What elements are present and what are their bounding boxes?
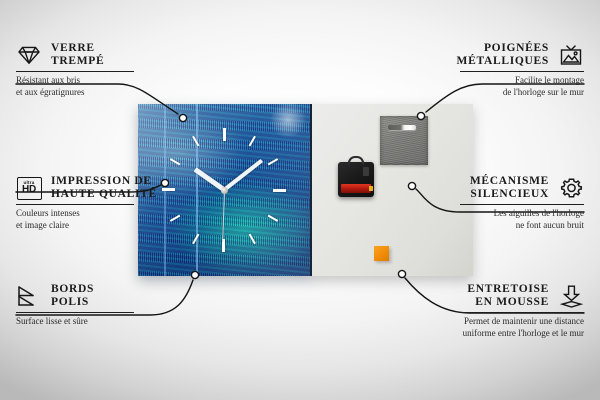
callout-description: Couleurs intenseset image claire <box>16 208 134 231</box>
infographic-canvas: VERRETREMPÉ Résistant aux briset aux égr… <box>0 0 600 400</box>
product-image-wall-clock <box>138 104 473 276</box>
feature-callout-bords-polis: BORDSPOLIS Surface lisse et sûre <box>16 283 134 328</box>
callout-divider <box>460 204 584 205</box>
callout-title: ENTRETOISEEN MOUSSE <box>467 283 549 309</box>
clock-tick <box>224 189 286 191</box>
gear-icon <box>558 175 584 201</box>
callout-divider <box>460 71 584 72</box>
callout-description: Facilite le montagede l'horloge sur le m… <box>460 75 584 98</box>
callout-description: Surface lisse et sûre <box>16 316 134 328</box>
clock-tick <box>162 189 224 191</box>
feature-callout-poignees-metalliques: POIGNÉESMÉTALLIQUES Facilite le montaged… <box>460 42 584 98</box>
callout-head: MÉCANISMESILENCIEUX <box>460 175 584 201</box>
callout-divider <box>16 204 134 205</box>
metal-hanger-plate <box>380 116 428 165</box>
callout-head: ENTRETOISEEN MOUSSE <box>460 283 584 309</box>
time-set-knob <box>363 167 369 176</box>
aa-battery <box>341 184 371 193</box>
quartz-mechanism-housing <box>338 162 374 197</box>
clock-tick <box>223 128 225 190</box>
feature-callout-verre-trempe: VERRETREMPÉ Résistant aux briset aux égr… <box>16 42 134 98</box>
hanger-loop <box>348 156 364 165</box>
callout-title: BORDSPOLIS <box>51 283 94 309</box>
callout-description: Les aiguilles de l'horlogene font aucun … <box>460 208 584 231</box>
callout-divider <box>16 71 134 72</box>
ultra-hd-badge-icon: ultra HD <box>16 175 42 201</box>
callout-divider <box>16 312 134 313</box>
diagonal-lines-icon <box>16 283 42 309</box>
foam-spacer-pad <box>374 246 389 261</box>
picture-frame-icon <box>558 42 584 68</box>
clock-front-glass-face <box>138 104 312 276</box>
callout-title: IMPRESSION DEHAUTE QUALITÉ <box>51 175 157 201</box>
arrow-down-layers-icon <box>558 283 584 309</box>
clock-hand-cap <box>221 187 228 194</box>
callout-head: BORDSPOLIS <box>16 283 134 309</box>
diamond-icon <box>16 42 42 68</box>
callout-description: Permet de maintenir une distanceuniforme… <box>460 316 584 339</box>
hanger-slot <box>388 125 416 130</box>
feature-callout-mecanisme-silencieux: MÉCANISMESILENCIEUX Les aiguilles de l'h… <box>460 175 584 231</box>
callout-head: ultra HD IMPRESSION DEHAUTE QUALITÉ <box>16 175 134 201</box>
feature-callout-impression-haute-qualite: ultra HD IMPRESSION DEHAUTE QUALITÉ Coul… <box>16 175 134 231</box>
callout-head: VERRETREMPÉ <box>16 42 134 68</box>
callout-title: VERRETREMPÉ <box>51 42 104 68</box>
callout-divider <box>460 312 584 313</box>
callout-description: Résistant aux briset aux égratignures <box>16 75 134 98</box>
callout-title: MÉCANISMESILENCIEUX <box>470 175 549 201</box>
clock-back-panel <box>312 104 473 276</box>
feature-callout-entretoise-en-mousse: ENTRETOISEEN MOUSSE Permet de maintenir … <box>460 283 584 339</box>
callout-head: POIGNÉESMÉTALLIQUES <box>460 42 584 68</box>
ultra-hd-badge-main-text: HD <box>22 185 36 195</box>
callout-title: POIGNÉESMÉTALLIQUES <box>457 42 549 68</box>
